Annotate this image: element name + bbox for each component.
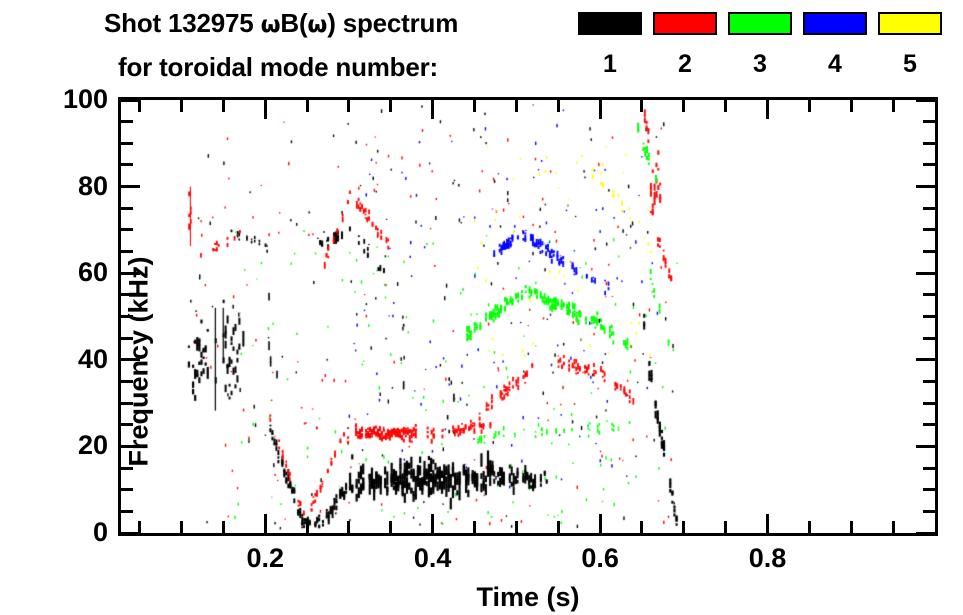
title-spectrum-text: ) spectrum [327, 8, 458, 38]
y-tick-labels: 020406080100 [0, 100, 108, 533]
chart-title-line-1: Shot 132975 ωB(ω) spectrum [104, 8, 458, 39]
right-frame-line [935, 97, 938, 536]
legend-entry-5[interactable]: 5 [878, 12, 944, 88]
chart-title-line-2: for toroidal mode number: [118, 52, 438, 83]
x-axis-line [118, 533, 938, 536]
y-tick-label-20: 20 [18, 432, 108, 459]
legend-swatch-3 [728, 12, 792, 35]
y-tick-label-0: 0 [18, 519, 108, 546]
x-tick-label-0.4: 0.4 [373, 545, 493, 572]
omega-symbol-1: ω [261, 12, 281, 38]
legend-label-5: 5 [878, 50, 942, 79]
legend-label-3: 3 [728, 50, 792, 79]
spectrogram-canvas [121, 100, 935, 533]
legend: 12345 [578, 12, 958, 88]
spectrogram-figure: Shot 132975 ωB(ω) spectrum for toroidal … [0, 0, 963, 615]
x-axis-title: Time (s) [121, 582, 935, 613]
legend-label-1: 1 [578, 50, 642, 79]
legend-swatch-4 [803, 12, 867, 35]
title-shot-text: Shot 132975 [104, 8, 261, 38]
legend-label-2: 2 [653, 50, 717, 79]
legend-entry-4[interactable]: 4 [803, 12, 869, 88]
legend-swatch-2 [653, 12, 717, 35]
x-tick-labels: 0.20.40.60.8 [121, 545, 935, 585]
x-tick-label-0.6: 0.6 [540, 545, 660, 572]
legend-entry-3[interactable]: 3 [728, 12, 794, 88]
y-tick-label-60: 60 [18, 259, 108, 286]
omega-symbol-2: ω [307, 12, 327, 38]
y-tick-label-80: 80 [18, 173, 108, 200]
legend-swatch-5 [878, 12, 942, 35]
plot-area: Frequency (kHz) [121, 100, 935, 533]
title-b-text: B( [280, 8, 307, 38]
y-tick-label-40: 40 [18, 346, 108, 373]
legend-label-4: 4 [803, 50, 867, 79]
legend-entry-2[interactable]: 2 [653, 12, 719, 88]
x-tick-label-0.8: 0.8 [708, 545, 828, 572]
y-axis-title: Frequency (kHz) [124, 202, 155, 522]
legend-swatch-1 [578, 12, 642, 35]
legend-entry-1[interactable]: 1 [578, 12, 644, 88]
y-tick-label-100: 100 [18, 86, 108, 113]
x-tick-label-0.2: 0.2 [205, 545, 325, 572]
